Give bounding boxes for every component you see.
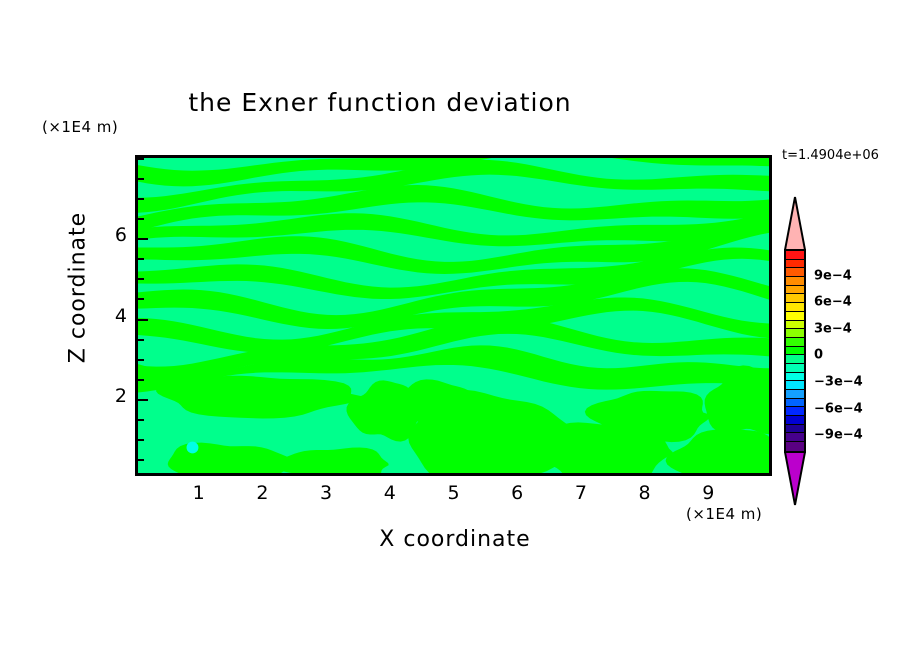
y-axis-tick (138, 158, 144, 160)
chart-title: the Exner function deviation (0, 88, 760, 117)
y-axis-tick (138, 459, 144, 461)
x-tick-label: 9 (702, 482, 714, 504)
colorbar-band (786, 364, 804, 373)
colorbar-tick-label: 9e−4 (814, 268, 852, 283)
y-tick-label: 4 (105, 305, 127, 327)
colorbar-tick-label: −6e−4 (814, 401, 863, 416)
colorbar-band (786, 416, 804, 425)
colorbar-band (786, 312, 804, 321)
x-tick-label: 8 (639, 482, 651, 504)
colorbar-tick-label: 6e−4 (814, 295, 852, 310)
colorbar-band (786, 338, 804, 347)
colorbar-tick-label: 3e−4 (814, 321, 852, 336)
colorbar-band (786, 433, 804, 442)
y-axis-tick (138, 339, 144, 341)
y-axis-tick (138, 319, 148, 321)
y-axis-title: Z coordinate (66, 188, 91, 388)
colorbar-band (786, 303, 804, 312)
x-tick-label: 1 (193, 482, 205, 504)
colorbar-band (786, 294, 804, 303)
x-tick-label: 2 (256, 482, 268, 504)
x-axis-unit-label: (×1E4 m) (686, 505, 762, 523)
y-axis-tick (138, 278, 144, 280)
colorbar-band (786, 373, 804, 382)
colorbar-extend-low (784, 451, 806, 506)
x-tick-label: 6 (511, 482, 523, 504)
colorbar-band (786, 390, 804, 399)
colorbar-band (786, 399, 804, 408)
x-tick-label: 7 (575, 482, 587, 504)
y-axis-tick (138, 359, 144, 361)
y-axis-unit-label: (×1E4 m) (42, 118, 118, 136)
y-tick-label: 6 (105, 224, 127, 246)
colorbar-band (786, 329, 804, 338)
y-axis-tick (138, 298, 144, 300)
colorbar-band (786, 268, 804, 277)
colorbar-band (786, 381, 804, 390)
colorbar-band (786, 425, 804, 434)
colorbar-tick-label: −9e−4 (814, 428, 863, 443)
colorbar-tick-label: 0 (814, 348, 823, 363)
y-axis-tick (138, 238, 148, 240)
contour-field (138, 158, 769, 473)
colorbar-band (786, 355, 804, 364)
colorbar-bands (784, 249, 806, 453)
contour-plot-area (135, 155, 772, 476)
colorbar-band (786, 442, 804, 451)
x-tick-label: 5 (447, 482, 459, 504)
y-axis-tick (138, 419, 144, 421)
colorbar-extend-high (784, 196, 806, 251)
y-axis-tick (138, 178, 144, 180)
x-tick-label: 3 (320, 482, 332, 504)
cyan-anomaly-spot (187, 442, 199, 454)
y-axis-tick (138, 439, 144, 441)
y-tick-label: 2 (105, 385, 127, 407)
colorbar-band (786, 286, 804, 295)
colorbar-band (786, 347, 804, 356)
colorbar-band (786, 277, 804, 286)
colorbar-band (786, 251, 804, 260)
contour-blob-green (531, 422, 673, 473)
colorbar: 9e−46e−43e−40−3e−4−6e−4−9e−4 (782, 196, 808, 506)
colorbar-band (786, 407, 804, 416)
y-axis-tick (138, 198, 144, 200)
y-axis-tick (138, 258, 144, 260)
x-axis-title: X coordinate (255, 527, 655, 552)
colorbar-band (786, 321, 804, 330)
y-axis-tick (138, 218, 144, 220)
y-axis-tick (138, 379, 144, 381)
time-annotation: t=1.4904e+06 (782, 148, 879, 163)
y-axis-tick (138, 399, 148, 401)
colorbar-band (786, 260, 804, 269)
colorbar-tick-label: −3e−4 (814, 375, 863, 390)
x-tick-label: 4 (384, 482, 396, 504)
